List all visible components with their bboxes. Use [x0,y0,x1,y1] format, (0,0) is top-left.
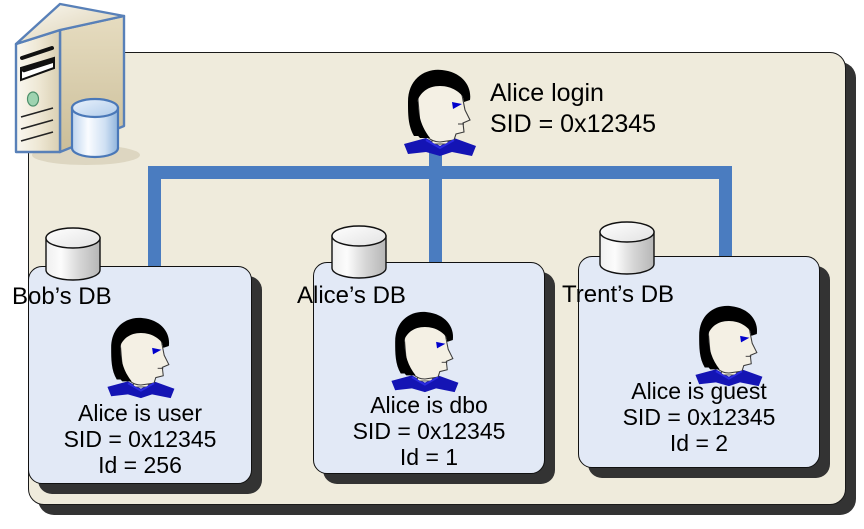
diagram-canvas: Alice login SID = 0x12345 Bob’s DB [0,0,864,529]
database-cylinder-icon [328,222,390,284]
database-cylinder-icon [42,224,104,286]
db-sid-line: SID = 0x12345 [28,426,252,452]
db-id-line: Id = 1 [313,444,545,470]
db-info-trents-db: Alice is guest SID = 0x12345 Id = 2 [578,378,820,456]
root-login-label: Alice login SID = 0x12345 [490,78,790,140]
db-info-alices-db: Alice is dbo SID = 0x12345 Id = 1 [313,392,545,470]
db-id-line: Id = 256 [28,452,252,478]
db-title-alices-db: Alice’s DB [297,283,406,309]
db-title-bobs-db: Bob’s DB [12,284,112,310]
database-cylinder-icon [596,218,658,280]
db-role-line: Alice is dbo [313,392,545,418]
db-role-line: Alice is guest [578,378,820,404]
root-login-name: Alice login [490,78,790,109]
db-info-bobs-db: Alice is user SID = 0x12345 Id = 256 [28,400,252,478]
server-tower-icon [6,2,156,172]
person-head-icon [100,314,180,404]
db-id-line: Id = 2 [578,430,820,456]
db-sid-line: SID = 0x12345 [313,418,545,444]
db-role-line: Alice is user [28,400,252,426]
database-cylinder-icon [72,99,118,157]
person-head-icon [396,66,482,162]
root-login-sid: SID = 0x12345 [490,109,790,140]
person-head-icon [384,308,464,398]
db-title-trents-db: Trent’s DB [562,282,674,308]
db-sid-line: SID = 0x12345 [578,404,820,430]
